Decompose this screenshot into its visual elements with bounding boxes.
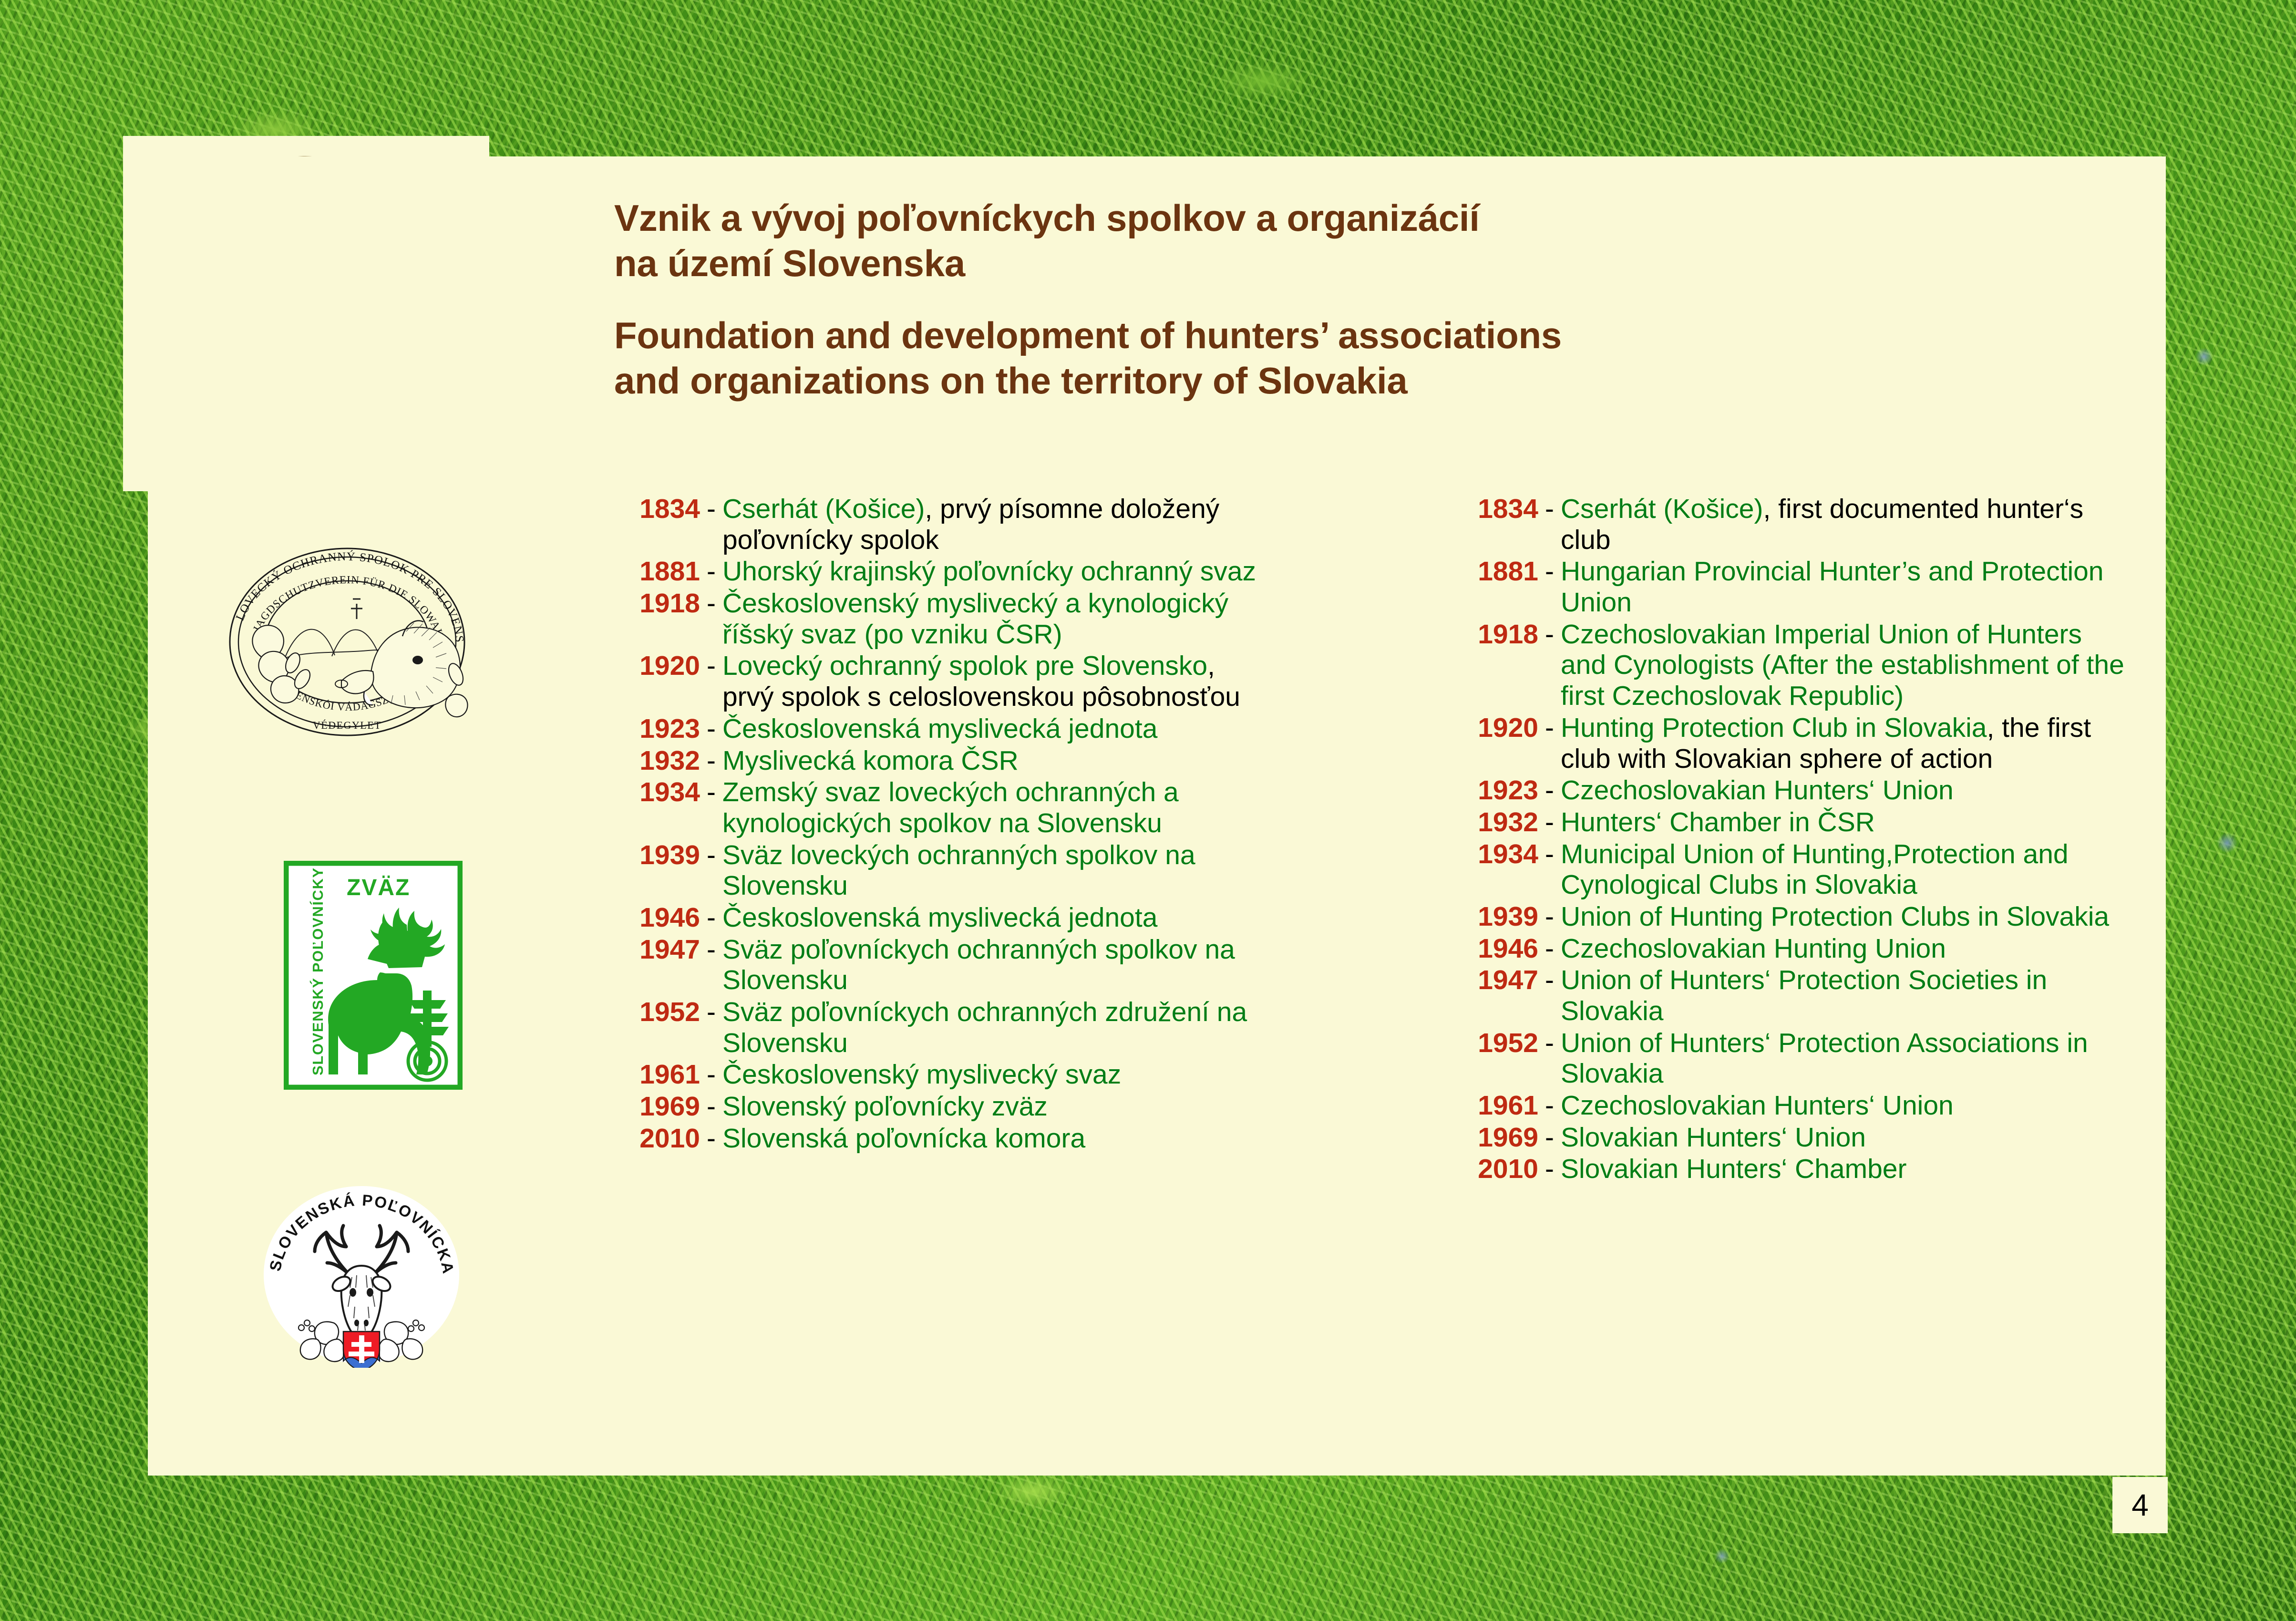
timeline-entry: 1932-Hunters‘ Chamber in ČSR xyxy=(1452,807,2130,838)
timeline-year: 1881 xyxy=(614,556,700,587)
timeline-year: 1934 xyxy=(614,777,700,838)
timeline-year: 1952 xyxy=(1452,1028,1538,1089)
organization-name: Myslivecká komora ČSR xyxy=(722,745,1019,776)
timeline-dash: - xyxy=(1538,807,1561,838)
organization-name: Sväz loveckých ochranných spolkov na Slo… xyxy=(722,840,1195,901)
timeline-entry: 1918-Československý myslivecký a kynolog… xyxy=(614,588,1272,650)
organization-name: Cserhát (Košice) xyxy=(1561,494,1763,524)
timeline-dash: - xyxy=(1538,1090,1561,1121)
timeline-entry: 1961-Czechoslovakian Hunters‘ Union xyxy=(1452,1090,2130,1121)
timeline-year: 1920 xyxy=(1452,712,1538,774)
timeline-dash: - xyxy=(700,1091,722,1122)
timeline-description: Československá myslivecká jednota xyxy=(722,713,1272,744)
timeline-description: Czechoslovakian Hunters‘ Union xyxy=(1561,775,2130,806)
timeline-entry: 1969-Slovakian Hunters‘ Union xyxy=(1452,1122,2130,1153)
timeline-entry: 1946-Czechoslovakian Hunting Union xyxy=(1452,933,2130,964)
organization-name: Sväz poľovníckych ochranných spolkov na … xyxy=(722,934,1235,996)
timeline-description: Czechoslovakian Hunters‘ Union xyxy=(1561,1090,2130,1121)
timeline-dash: - xyxy=(700,556,722,587)
timeline-dash: - xyxy=(700,777,722,838)
organization-name: Československá myslivecká jednota xyxy=(722,713,1157,744)
organization-name: Union of Hunters‘ Protection Association… xyxy=(1561,1028,2088,1089)
timeline-dash: - xyxy=(1538,619,1561,712)
timeline-year: 1946 xyxy=(1452,933,1538,964)
timeline-dash: - xyxy=(1538,1154,1561,1185)
timeline-dash: - xyxy=(1538,1028,1561,1089)
timeline-description: Myslivecká komora ČSR xyxy=(722,745,1272,776)
organization-name: Slovakian Hunters‘ Chamber xyxy=(1561,1154,1907,1184)
timeline-dash: - xyxy=(1538,1122,1561,1153)
timeline-description: Slovakian Hunters‘ Chamber xyxy=(1561,1154,2130,1185)
svg-text:SLOVENSKÝ POĽOVNÍCKY: SLOVENSKÝ POĽOVNÍCKY xyxy=(309,867,326,1075)
timeline-description: Slovenský poľovnícky zväz xyxy=(722,1091,1272,1122)
organization-name: Hungarian Provincial Hunter’s and Protec… xyxy=(1561,556,2104,618)
organization-name: Hunting Protection Club in Slovakia xyxy=(1561,712,1987,743)
timeline-dash: - xyxy=(700,1123,722,1154)
timeline-description: Hunters‘ Chamber in ČSR xyxy=(1561,807,2130,838)
timeline-dash: - xyxy=(700,1059,722,1090)
timeline-description: Union of Hunting Protection Clubs in Slo… xyxy=(1561,901,2130,932)
timeline-entry: 1969-Slovenský poľovnícky zväz xyxy=(614,1091,1272,1122)
timeline-list-english: 1834-Cserhát (Košice), first documented … xyxy=(1452,494,2130,1186)
timeline-dash: - xyxy=(700,902,722,933)
organization-name: Cserhát (Košice) xyxy=(722,494,925,524)
timeline-dash: - xyxy=(700,713,722,744)
organization-name: Československý myslivecký a kynologický … xyxy=(722,588,1228,650)
timeline-year: 1920 xyxy=(614,650,700,712)
timeline-dash: - xyxy=(1538,775,1561,806)
timeline-description: Lovecký ochranný spolok pre Slovensko, p… xyxy=(722,650,1272,712)
timeline-description: Municipal Union of Hunting,Protection an… xyxy=(1561,839,2130,900)
timeline-year: 1932 xyxy=(1452,807,1538,838)
timeline-description: Union of Hunters‘ Protection Societies i… xyxy=(1561,965,2130,1026)
slovensky-polovnicky-zvaz-logo: ZVÄZ SLOVENSKÝ POĽOVNÍCKY xyxy=(284,861,463,1090)
organization-name: Czechoslovakian Hunters‘ Union xyxy=(1561,775,1954,805)
lovecky-ochranny-spolok-seal: LOVECKÝ OCHRANNÝ SPOLOK PRE SLOVENSKO JA… xyxy=(214,538,481,743)
timeline-entry: 1952-Union of Hunters‘ Protection Associ… xyxy=(1452,1028,2130,1089)
organization-name: Zemský svaz loveckých ochranných a kynol… xyxy=(722,777,1179,838)
timeline-description: Czechoslovakian Hunting Union xyxy=(1561,933,2130,964)
timeline-entry: 1923-Československá myslivecká jednota xyxy=(614,713,1272,744)
timeline-year: 1923 xyxy=(1452,775,1538,806)
organization-name: Czechoslovakian Imperial Union of Hunter… xyxy=(1561,619,2124,711)
title-slovak: Vznik a vývoj poľovníckych spolkov a org… xyxy=(614,196,1902,286)
timeline-dash: - xyxy=(700,494,722,555)
timeline-dash: - xyxy=(1538,965,1561,1026)
title-slovak-line2: na území Slovenska xyxy=(614,241,1902,286)
slovenska-polovnicka-komora-logo: SLOVENSKÁ POĽOVNÍCKA KOMORA xyxy=(261,1182,462,1368)
timeline-entry: 1961-Československý myslivecký svaz xyxy=(614,1059,1272,1090)
timeline-description: Hungarian Provincial Hunter’s and Protec… xyxy=(1561,556,2130,618)
organization-name: Union of Hunters‘ Protection Societies i… xyxy=(1561,965,2047,1026)
organization-name: Slovenský poľovnícky zväz xyxy=(722,1091,1048,1122)
timeline-dash: - xyxy=(700,650,722,712)
timeline-year: 1918 xyxy=(614,588,700,650)
page-title: Vznik a vývoj poľovníckych spolkov a org… xyxy=(614,196,1902,404)
timeline-entry: 1934-Zemský svaz loveckých ochranných a … xyxy=(614,777,1272,838)
timeline-year: 1961 xyxy=(614,1059,700,1090)
timeline-entry: 1939-Union of Hunting Protection Clubs i… xyxy=(1452,901,2130,932)
organization-name: Slovenská poľovnícka komora xyxy=(722,1123,1085,1154)
organization-name: Union of Hunting Protection Clubs in Slo… xyxy=(1561,901,2109,932)
timeline-entry: 1947-Union of Hunters‘ Protection Societ… xyxy=(1452,965,2130,1026)
timeline-dash: - xyxy=(700,934,722,996)
timeline-entry: 2010-Slovenská poľovnícka komora xyxy=(614,1123,1272,1154)
organization-name: Czechoslovakian Hunting Union xyxy=(1561,933,1946,964)
timeline-dash: - xyxy=(1538,556,1561,618)
organization-name: Sväz poľovníckych ochranných združení na… xyxy=(722,997,1247,1058)
timeline-year: 2010 xyxy=(1452,1154,1538,1185)
timeline-year: 1961 xyxy=(1452,1090,1538,1121)
organization-name: Československá myslivecká jednota xyxy=(722,902,1157,933)
timeline-description: Cserhát (Košice), first documented hunte… xyxy=(1561,494,2130,555)
title-slovak-line1: Vznik a vývoj poľovníckych spolkov a org… xyxy=(614,196,1902,241)
timeline-year: 1952 xyxy=(614,997,700,1058)
timeline-year: 1946 xyxy=(614,902,700,933)
timeline-description: Slovenská poľovnícka komora xyxy=(722,1123,1272,1154)
timeline-description: Hunting Protection Club in Slovakia, the… xyxy=(1561,712,2130,774)
organization-name: Municipal Union of Hunting,Protection an… xyxy=(1561,839,2069,900)
timeline-description: Sväz loveckých ochranných spolkov na Slo… xyxy=(722,840,1272,901)
timeline-entry: 1939-Sväz loveckých ochranných spolkov n… xyxy=(614,840,1272,901)
title-english-line1: Foundation and development of hunters’ a… xyxy=(614,313,1902,358)
timeline-dash: - xyxy=(1538,494,1561,555)
timeline-entry: 1923-Czechoslovakian Hunters‘ Union xyxy=(1452,775,2130,806)
timeline-entry: 1881-Hungarian Provincial Hunter’s and P… xyxy=(1452,556,2130,618)
organization-name: Lovecký ochranný spolok pre Slovensko xyxy=(722,650,1207,681)
timeline-entry: 1920-Hunting Protection Club in Slovakia… xyxy=(1452,712,2130,774)
timeline-year: 1918 xyxy=(1452,619,1538,712)
timeline-year: 1947 xyxy=(1452,965,1538,1026)
timeline-description: Slovakian Hunters‘ Union xyxy=(1561,1122,2130,1153)
timeline-entry: 1946-Československá myslivecká jednota xyxy=(614,902,1272,933)
organization-name: Československý myslivecký svaz xyxy=(722,1059,1121,1090)
timeline-year: 1947 xyxy=(614,934,700,996)
organization-name: Hunters‘ Chamber in ČSR xyxy=(1561,807,1875,837)
svg-text:ZVÄZ: ZVÄZ xyxy=(347,875,410,900)
timeline-description: Union of Hunters‘ Protection Association… xyxy=(1561,1028,2130,1089)
title-english-line2: and organizations on the territory of Sl… xyxy=(614,358,1902,403)
timeline-dash: - xyxy=(700,588,722,650)
timeline-description: Zemský svaz loveckých ochranných a kynol… xyxy=(722,777,1272,838)
timeline-description: Uhorský krajinský poľovnícky ochranný sv… xyxy=(722,556,1272,587)
timeline-description: Cserhát (Košice), prvý písomne doložený … xyxy=(722,494,1272,555)
timeline-year: 1969 xyxy=(1452,1122,1538,1153)
timeline-entry: 1881-Uhorský krajinský poľovnícky ochran… xyxy=(614,556,1272,587)
organization-name: Slovakian Hunters‘ Union xyxy=(1561,1122,1866,1153)
timeline-entry: 1952-Sväz poľovníckych ochranných združe… xyxy=(614,997,1272,1058)
timeline-entry: 1920-Lovecký ochranný spolok pre Slovens… xyxy=(614,650,1272,712)
timeline-dash: - xyxy=(700,997,722,1058)
svg-text:VÉDEGYLET: VÉDEGYLET xyxy=(313,719,381,731)
timeline-year: 1939 xyxy=(1452,901,1538,932)
title-english: Foundation and development of hunters’ a… xyxy=(614,313,1902,403)
timeline-list-slovak: 1834-Cserhát (Košice), prvý písomne dolo… xyxy=(614,494,1272,1155)
timeline-description: Československý myslivecký a kynologický … xyxy=(722,588,1272,650)
timeline-entry: 1934-Municipal Union of Hunting,Protecti… xyxy=(1452,839,2130,900)
timeline-description: Československý myslivecký svaz xyxy=(722,1059,1272,1090)
timeline-year: 1923 xyxy=(614,713,700,744)
timeline-entry: 1918-Czechoslovakian Imperial Union of H… xyxy=(1452,619,2130,712)
timeline-description: Czechoslovakian Imperial Union of Hunter… xyxy=(1561,619,2130,712)
timeline-description: Československá myslivecká jednota xyxy=(722,902,1272,933)
organization-name: Uhorský krajinský poľovnícky ochranný sv… xyxy=(722,556,1256,587)
timeline-entry: 1834-Cserhát (Košice), prvý písomne dolo… xyxy=(614,494,1272,555)
timeline-year: 1834 xyxy=(1452,494,1538,555)
timeline-year: 1881 xyxy=(1452,556,1538,618)
timeline-year: 2010 xyxy=(614,1123,700,1154)
timeline-entry: 1932-Myslivecká komora ČSR xyxy=(614,745,1272,776)
timeline-description: Sväz poľovníckych ochranných spolkov na … xyxy=(722,934,1272,996)
page-number: 4 xyxy=(2131,1487,2149,1523)
timeline-dash: - xyxy=(700,840,722,901)
timeline-year: 1969 xyxy=(614,1091,700,1122)
timeline-year: 1939 xyxy=(614,840,700,901)
timeline-entry: 2010-Slovakian Hunters‘ Chamber xyxy=(1452,1154,2130,1185)
timeline-dash: - xyxy=(1538,901,1561,932)
timeline-dash: - xyxy=(700,745,722,776)
timeline-dash: - xyxy=(1538,712,1561,774)
timeline-description: Sväz poľovníckych ochranných združení na… xyxy=(722,997,1272,1058)
timeline-entry: 1834-Cserhát (Košice), first documented … xyxy=(1452,494,2130,555)
organization-name: Czechoslovakian Hunters‘ Union xyxy=(1561,1090,1954,1121)
page-number-box: 4 xyxy=(2112,1477,2168,1533)
timeline-entry: 1947-Sväz poľovníckych ochranných spolko… xyxy=(614,934,1272,996)
timeline-year: 1932 xyxy=(614,745,700,776)
timeline-year: 1834 xyxy=(614,494,700,555)
timeline-dash: - xyxy=(1538,933,1561,964)
timeline-dash: - xyxy=(1538,839,1561,900)
timeline-year: 1934 xyxy=(1452,839,1538,900)
